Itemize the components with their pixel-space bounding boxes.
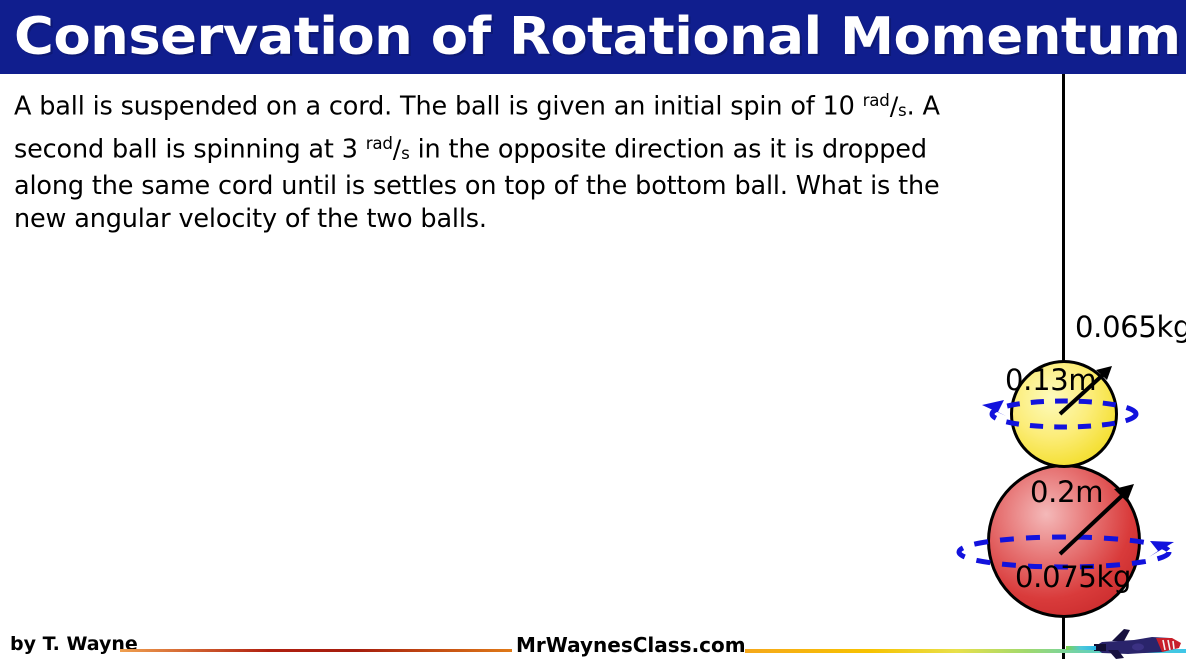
unit-numerator: rad	[366, 134, 393, 153]
top-ball-radius-label: 0.13m	[1005, 363, 1096, 397]
byline: by T. Wayne	[10, 633, 138, 655]
problem-statement: A ball is suspended on a cord. The ball …	[14, 84, 989, 236]
bottom-ball-mass-label: 0.075kg	[1015, 560, 1131, 594]
footer-rule-left	[120, 649, 512, 652]
unit-bar: /	[890, 92, 898, 121]
footer: by T. Wayne MrWaynesClass.com	[0, 625, 1186, 667]
problem-text-part-1: A ball is suspended on a cord. The ball …	[14, 92, 863, 122]
physics-diagram: 0.065kg 0.13m 0.2m 0.075kg	[930, 60, 1186, 660]
unit-numerator: rad	[863, 91, 890, 110]
unit-denominator: s	[401, 144, 410, 163]
top-ball-mass-label: 0.065kg	[1075, 310, 1186, 344]
slide-root: Conservation of Rotational Momentum A ba…	[0, 0, 1186, 667]
site-link[interactable]: MrWaynesClass.com	[516, 633, 746, 657]
unit-rad-per-s-2: rad/s	[366, 127, 410, 170]
bottom-ball-spin-arrowhead	[1149, 541, 1174, 557]
top-ball-spin-arrowhead	[982, 400, 1006, 416]
unit-denominator: s	[898, 101, 907, 120]
bottom-ball-radius-label: 0.2m	[1030, 475, 1103, 509]
unit-rad-per-s-1: rad/s	[863, 84, 907, 127]
unit-bar: /	[393, 134, 401, 163]
jet-icon	[1066, 628, 1184, 662]
